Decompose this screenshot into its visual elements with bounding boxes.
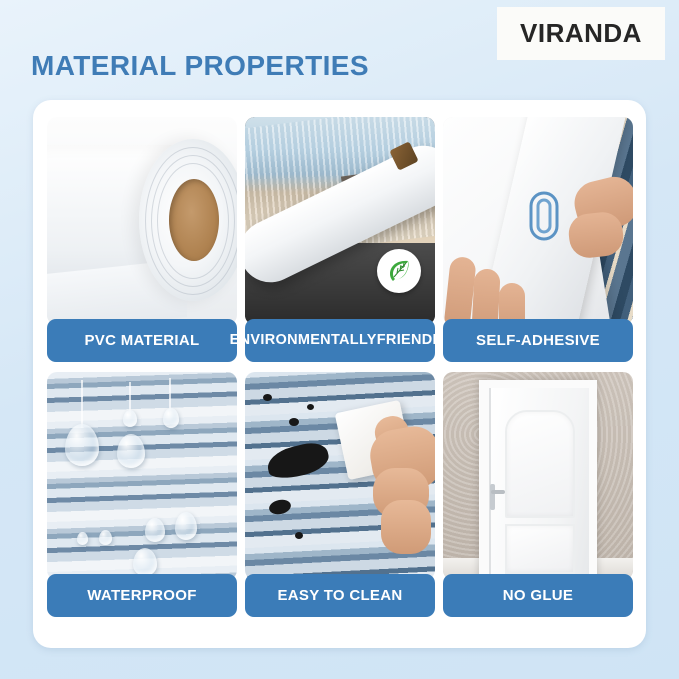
paperclip-badge — [527, 189, 561, 248]
finger-shape — [471, 268, 500, 325]
feature-card-pvc-material[interactable]: PVC MATERIAL — [47, 117, 237, 362]
feature-label-waterproof: WATERPROOF — [47, 574, 237, 617]
wipe-stain-photo — [245, 372, 435, 580]
water-droplet-shape — [99, 530, 112, 545]
stain-shape — [307, 404, 314, 410]
eco-roll-photo — [245, 117, 435, 325]
water-droplet-shape — [65, 424, 99, 466]
feature-card-environmentally-friendly[interactable]: ENVIRONMENTALLY FRIENDLY — [245, 117, 435, 362]
door-handle-shape — [491, 490, 505, 494]
page-title: MATERIAL PROPERTIES — [31, 50, 369, 82]
feature-label-pvc-material: PVC MATERIAL — [47, 319, 237, 362]
water-droplets-photo — [47, 372, 237, 580]
stain-shape — [295, 532, 303, 539]
white-door-photo — [443, 372, 633, 580]
cardboard-core-shape — [169, 179, 219, 261]
droplet-trail-shape — [169, 378, 171, 410]
feature-label-no-glue: NO GLUE — [443, 574, 633, 617]
water-droplet-shape — [77, 532, 88, 545]
feature-card-waterproof[interactable]: WATERPROOF — [47, 372, 237, 617]
brand-logo-box: VIRANDA — [497, 7, 665, 60]
finger-shape — [381, 500, 431, 554]
water-droplet-shape — [145, 518, 165, 542]
water-droplet-shape — [117, 434, 145, 468]
feature-card-self-adhesive[interactable]: SELF-ADHESIVE — [443, 117, 633, 362]
feature-label-self-adhesive: SELF-ADHESIVE — [443, 319, 633, 362]
stain-shape — [264, 439, 331, 483]
pvc-roll-photo — [47, 117, 237, 325]
paperclip-icon — [527, 189, 561, 243]
label-line-1: ENVIRONMENTALLY — [230, 333, 377, 348]
door-handle-plate-shape — [490, 484, 495, 510]
water-droplet-shape — [133, 548, 157, 576]
door-panel-top-shape — [505, 410, 575, 518]
droplet-trail-shape — [81, 380, 83, 428]
stain-shape — [263, 394, 272, 401]
feature-card-easy-to-clean[interactable]: EASY TO CLEAN — [245, 372, 435, 617]
peel-backing-photo — [443, 117, 633, 325]
water-droplet-shape — [163, 408, 179, 428]
door-panel-bottom-shape — [505, 524, 575, 574]
feature-card-no-glue[interactable]: NO GLUE — [443, 372, 633, 617]
water-droplet-shape — [123, 410, 137, 427]
label-line-2: FRIENDLY — [377, 333, 451, 348]
eco-badge — [377, 249, 421, 293]
water-droplet-shape — [175, 512, 197, 540]
stain-shape — [289, 418, 299, 426]
features-grid: PVC MATERIAL — [47, 117, 633, 617]
feature-label-environmentally-friendly: ENVIRONMENTALLY FRIENDLY — [245, 319, 435, 362]
leaf-icon — [385, 257, 413, 285]
stain-shape — [268, 498, 292, 516]
feature-label-easy-to-clean: EASY TO CLEAN — [245, 574, 435, 617]
brand-name: VIRANDA — [520, 18, 642, 49]
